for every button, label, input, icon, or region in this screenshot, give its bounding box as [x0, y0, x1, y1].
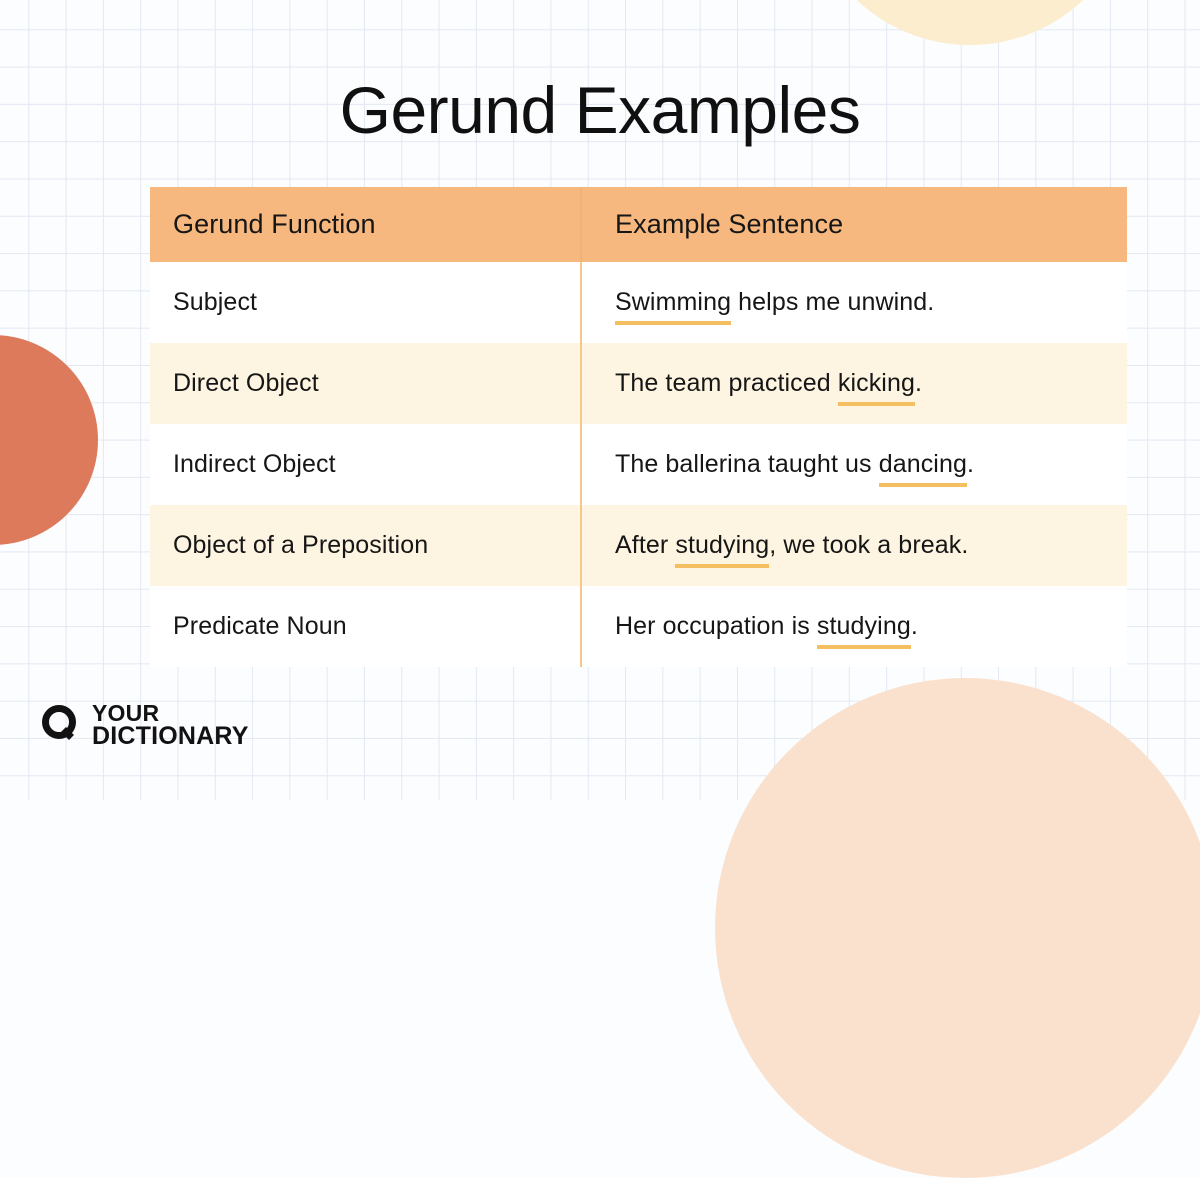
table-row: SubjectSwimming helps me unwind.	[150, 262, 1127, 343]
logo-line-your: YOUR	[92, 702, 249, 724]
cell-example-sentence: The team practiced kicking.	[581, 343, 1127, 424]
cell-example-sentence: The ballerina taught us dancing.	[581, 424, 1127, 505]
column-header-example-sentence: Example Sentence	[581, 187, 1127, 262]
sentence-text-before: After	[615, 531, 675, 559]
gerund-word-underlined: Swimming	[615, 288, 731, 317]
sentence-text-after: helps me unwind.	[731, 288, 934, 316]
table-row: Object of a PrepositionAfter studying, w…	[150, 505, 1127, 586]
gerund-examples-table: Gerund Function Example Sentence Subject…	[150, 187, 1127, 667]
gerund-word-underlined: studying	[675, 531, 769, 560]
cell-gerund-function: Direct Object	[150, 343, 581, 424]
table-row: Indirect ObjectThe ballerina taught us d…	[150, 424, 1127, 505]
cell-gerund-function: Predicate Noun	[150, 586, 581, 667]
page-title: Gerund Examples	[0, 72, 1200, 148]
sentence-text-after: .	[967, 450, 974, 478]
cell-example-sentence: Her occupation is studying.	[581, 586, 1127, 667]
table-header-row: Gerund Function Example Sentence	[150, 187, 1127, 262]
table-body: SubjectSwimming helps me unwind.Direct O…	[150, 262, 1127, 667]
sentence-text-before: The team practiced	[615, 369, 838, 397]
yourdictionary-logo: YOUR DICTIONARY	[40, 702, 249, 748]
sentence-text-after: .	[911, 612, 918, 640]
gerund-word-underlined: kicking	[838, 369, 915, 398]
sentence-text-after: , we took a break.	[769, 531, 968, 559]
q-ring-logo-icon	[40, 703, 80, 748]
cell-gerund-function: Object of a Preposition	[150, 505, 581, 586]
sentence-text-before: The ballerina taught us	[615, 450, 879, 478]
logo-line-dictionary: DICTIONARY	[92, 724, 249, 748]
gerund-word-underlined: studying	[817, 612, 911, 641]
column-header-gerund-function: Gerund Function	[150, 187, 581, 262]
table-row: Predicate NounHer occupation is studying…	[150, 586, 1127, 667]
sentence-text-before: Her occupation is	[615, 612, 817, 640]
cell-gerund-function: Subject	[150, 262, 581, 343]
gerund-word-underlined: dancing	[879, 450, 967, 479]
logo-wordmark: YOUR DICTIONARY	[92, 702, 249, 748]
cell-gerund-function: Indirect Object	[150, 424, 581, 505]
table-row: Direct ObjectThe team practiced kicking.	[150, 343, 1127, 424]
cell-example-sentence: Swimming helps me unwind.	[581, 262, 1127, 343]
cell-example-sentence: After studying, we took a break.	[581, 505, 1127, 586]
decorative-circle-bottom-right	[715, 678, 1200, 1178]
sentence-text-after: .	[915, 369, 922, 397]
